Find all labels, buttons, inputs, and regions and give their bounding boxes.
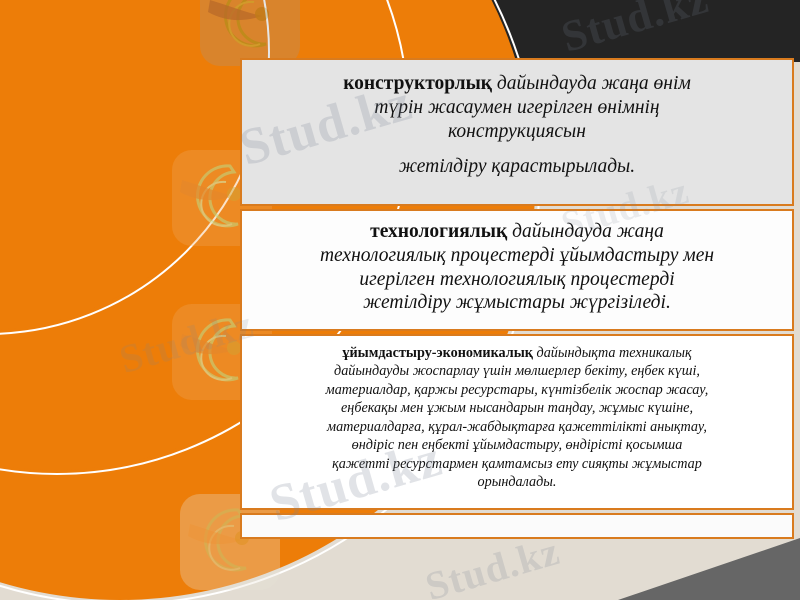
panel-1-text-1: дайындауда жаңа өнім (492, 73, 691, 94)
panel-1-line-1: конструкторлық дайындауда жаңа өнім (256, 72, 778, 96)
panel-2-keyword: технологиялық (370, 221, 507, 242)
panel-3-line-3: материалдар, қаржы ресурстары, күнтізбел… (256, 381, 778, 399)
panel-uiymdastyru-ekonomikalyq[interactable]: ұйымдастыру-экономикалық дайындықта техн… (240, 334, 794, 510)
panel-3-line-5: материалдарға, құрал-жабдықтарға қажетті… (256, 418, 778, 436)
panel-3-line-4: еңбекақы мен ұжым нысандарын таңдау, жұм… (256, 399, 778, 417)
panel-2-line-1: технологиялық дайындауда жаңа (256, 220, 778, 244)
panel-empty[interactable] (240, 513, 794, 539)
panel-2-text-1: дайындауда жаңа (507, 221, 664, 242)
panel-1-line-2: түрін жасаумен игерілген өнімнің (256, 96, 778, 120)
slide-canvas: конструкторлық дайындауда жаңа өнім түрі… (0, 0, 800, 600)
panel-3-keyword: ұйымдастыру-экономикалық (342, 345, 533, 361)
panel-3-line-2: дайындауды жоспарлау үшін мөлшерлер бекі… (256, 362, 778, 380)
panel-2-line-2: технологиялық процестерді ұйымдастыру ме… (256, 244, 778, 268)
panel-2-line-3: игерілген технологиялық процестерді (256, 268, 778, 292)
panel-3-line-1: ұйымдастыру-экономикалық дайындықта техн… (256, 344, 778, 362)
panel-3-text-1: дайындықта техникалық (533, 345, 692, 361)
panel-tehnologiyalyq[interactable]: технологиялық дайындауда жаңа технология… (240, 209, 794, 331)
panel-1-tail: жетілдіру қарастырылады. (256, 155, 778, 179)
panel-3-line-6: өндіріс пен еңбекті ұйымдастыру, өндіріс… (256, 436, 778, 454)
panel-konstruktorlyq[interactable]: конструкторлық дайындауда жаңа өнім түрі… (240, 58, 794, 206)
panel-2-line-4: жетілдіру жұмыстары жүргізіледі. (256, 291, 778, 315)
panel-1-keyword: конструкторлық (343, 73, 492, 94)
panel-3-line-8: орындалады. (256, 473, 778, 491)
content-panels: конструкторлық дайындауда жаңа өнім түрі… (240, 58, 794, 542)
panel-3-line-7: қажетті ресурстармен қамтамсыз ету сияқт… (256, 455, 778, 473)
panel-1-line-3: конструкциясын (256, 120, 778, 144)
